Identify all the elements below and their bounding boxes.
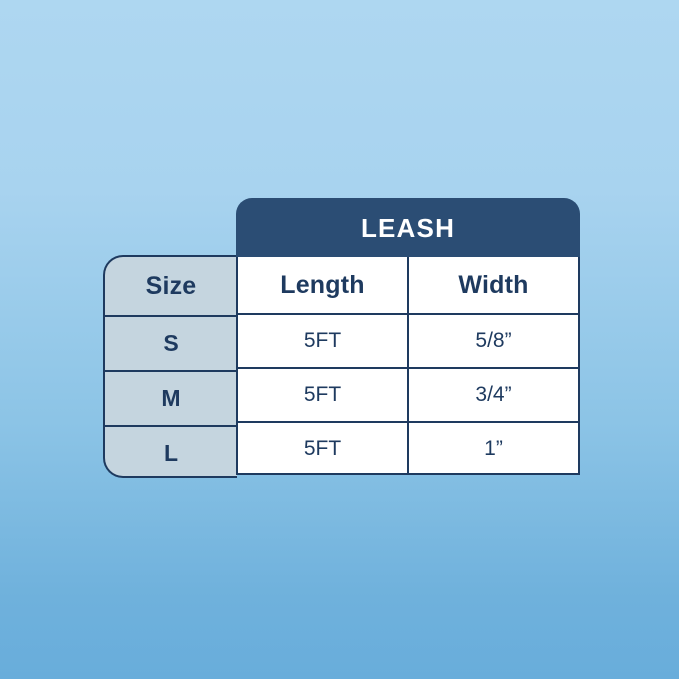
length-cell-s: 5FT xyxy=(238,315,407,367)
size-column: Size S M L xyxy=(103,255,237,478)
measurements-grid: Length Width 5FT 5/8” 5FT 3/4” 5FT 1” xyxy=(236,257,580,475)
size-cell-l: L xyxy=(105,425,237,480)
length-column-header: Length xyxy=(238,257,407,313)
chart-title-banner: LEASH xyxy=(236,198,580,258)
size-cell-m: M xyxy=(105,370,237,425)
width-cell-l: 1” xyxy=(407,423,578,475)
width-cell-s: 5/8” xyxy=(407,315,578,367)
length-cell-m: 5FT xyxy=(238,369,407,421)
table-row: 5FT 3/4” xyxy=(238,367,578,421)
table-header-row: Length Width xyxy=(238,257,578,313)
size-chart-canvas: LEASH Size S M L Length Width 5FT 5/8” 5… xyxy=(0,0,679,679)
width-column-header: Width xyxy=(407,257,578,313)
size-column-header: Size xyxy=(105,257,237,315)
table-row: 5FT 5/8” xyxy=(238,313,578,367)
size-cell-s: S xyxy=(105,315,237,370)
chart-title: LEASH xyxy=(361,213,455,244)
table-row: 5FT 1” xyxy=(238,421,578,475)
width-cell-m: 3/4” xyxy=(407,369,578,421)
length-cell-l: 5FT xyxy=(238,423,407,475)
